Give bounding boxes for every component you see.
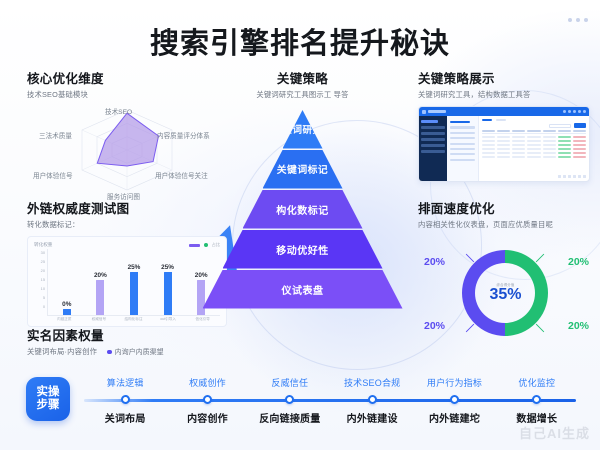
bar-chart-card: 转化权重 占比 302520151050 0%20%25%25%20% 内链正质… — [27, 236, 227, 327]
bar-category-label: 信化引导 — [188, 317, 217, 322]
page-title: 搜索引擎排名提升秘诀 — [0, 20, 600, 62]
steps-row: 算法逻辑关词布局权威创作内容创作反威信任反向链接质量技术SEO合规内外链建设用户… — [84, 373, 578, 431]
donut-leader-line — [466, 324, 474, 332]
step-top-label: 反威信任 — [271, 376, 308, 389]
bar-value-label: 25% — [128, 264, 141, 271]
table-row — [482, 156, 586, 158]
step-bottom-label: 反向链接质量 — [259, 410, 320, 425]
pyramid-chart: 全词研究关键词标记构化数标记移动优好性仪试表盘 — [203, 110, 403, 310]
bar-ytick: 20 — [41, 268, 45, 273]
weight-legend: 内询户内质渠望 — [107, 347, 164, 357]
step-node[interactable] — [285, 395, 294, 404]
bar-chart-yaxis: 302520151050 — [34, 249, 47, 316]
bar-ytick: 15 — [41, 277, 45, 282]
mock-body — [419, 116, 589, 181]
table-row — [482, 140, 586, 142]
donut-label-2: 20% — [424, 320, 445, 332]
mock-search-button — [574, 123, 586, 127]
pyramid-tier-label: 移动优好性 — [276, 242, 329, 257]
bar-ytick: 5 — [43, 295, 45, 300]
bar-chart-plot: 302520151050 0%20%25%25%20% — [34, 249, 220, 316]
step-top-label: 技术SEO合规 — [344, 376, 400, 389]
bar-chart-xaxis: 内链正质权威信号结构化标注out引导入信化引导 — [34, 317, 220, 322]
bar-value-label: 20% — [94, 272, 107, 279]
table-row — [482, 136, 586, 138]
donut-label-1: 20% — [568, 320, 589, 332]
bar-rect — [63, 309, 71, 315]
step-bottom-label: 关词布局 — [105, 410, 146, 425]
step-bottom-label: 内容创作 — [187, 410, 228, 425]
bar-section-subtitle: 转化数据标记： — [27, 220, 227, 230]
mock-search-input — [549, 124, 571, 128]
table-row — [482, 148, 586, 150]
step-item[interactable]: 技术SEO合规内外链建设 — [331, 373, 413, 431]
bar-category-label: 权威信号 — [84, 317, 113, 322]
weight-section-subtitle: 关键词布局·内容创作 — [27, 347, 97, 357]
bar-value-label: 0% — [62, 301, 71, 308]
dashboard-screenshot-mock — [418, 106, 590, 182]
step-top-label: 算法逻辑 — [107, 376, 144, 389]
step-item[interactable]: 反威信任反向链接质量 — [249, 373, 331, 431]
mock-titlebar-left — [422, 110, 446, 114]
donut-section-subtitle: 内容相关性化仪表盘，页面应优质量目呢 — [418, 220, 593, 230]
mock-pagination — [482, 175, 586, 178]
step-node[interactable] — [532, 395, 541, 404]
bar-ytick: 25 — [41, 259, 45, 264]
step-node[interactable] — [203, 395, 212, 404]
pyramid-tier: 全词研究 — [283, 110, 323, 149]
donut-label-0: 20% — [568, 256, 589, 268]
bar-chart-bars: 0%20%25%25%20% — [47, 249, 220, 316]
pyramid-section-subtitle: 关键词研究工具图示工 导答 — [200, 90, 405, 100]
steps-section: 实操 步骤 算法逻辑关词布局权威创作内容创作反威信任反向链接质量技术SEO合规内… — [26, 373, 578, 431]
step-node[interactable] — [121, 395, 130, 404]
bar-column: 25% — [153, 249, 182, 315]
bar-ytick: 30 — [41, 250, 45, 255]
weight-section-title: 实名因素权量 — [27, 325, 237, 344]
radar-chart: 技术SEO 内容质量评分体系 用户体验信号关注 服务访问图 用户体验信号 三法术… — [27, 104, 227, 199]
step-top-label: 优化监控 — [518, 376, 555, 389]
table-row — [482, 152, 586, 154]
bar-axis-caption: 转化权重 — [34, 242, 52, 248]
pyramid-tier: 仪试表盘 — [203, 270, 403, 309]
pyramid-tier-label: 关键词标记 — [277, 162, 328, 176]
pyramid-tier-label: 构化数标记 — [276, 202, 329, 217]
steps-badge-line1: 实操 — [37, 386, 60, 398]
step-bottom-label: 内外链建设 — [347, 410, 398, 425]
donut-chart: 20% 20% 20% 20% 综合得分值 35% — [418, 234, 593, 352]
mock-titlebar-actions — [563, 110, 586, 113]
bar-column: 20% — [86, 249, 115, 315]
bar-value-label: 25% — [161, 264, 174, 271]
mock-search-row — [482, 123, 586, 127]
donut-leader-line — [466, 254, 474, 262]
watermark: 自己AI生成 — [519, 423, 590, 442]
radar-label-4: 用户体验信号 — [33, 170, 73, 180]
step-node[interactable] — [368, 395, 377, 404]
bar-chart-header: 转化权重 占比 — [34, 242, 220, 248]
donut-section: 排面速度优化 内容相关性化仪表盘，页面应优质量目呢 20% 20% 20% 20… — [418, 198, 593, 352]
bar-rect — [96, 280, 104, 315]
weight-legend-label: 内询户内质渠望 — [115, 347, 164, 357]
pyramid-tier: 关键词标记 — [263, 150, 343, 189]
step-node[interactable] — [450, 395, 459, 404]
mock-tabs — [482, 119, 586, 121]
infographic-poster: 搜索引擎排名提升秘诀 核心优化维度 技术SEO基础模块 技术SEO 内容质量评分… — [0, 0, 600, 450]
dashboard-section-title: 关键策略展示 — [418, 68, 590, 87]
donut-section-title: 排面速度优化 — [418, 198, 593, 217]
radar-label-5: 三法术质量 — [39, 130, 72, 140]
legend-bar-swatch — [189, 244, 200, 247]
steps-badge: 实操 步骤 — [26, 377, 70, 421]
mock-logo-icon — [422, 110, 426, 114]
mock-title-placeholder — [428, 110, 446, 112]
pyramid-section: 关键策略 关键词研究工具图示工 导答 全词研究关键词标记构化数标记移动优好性仪试… — [200, 68, 405, 310]
steps-badge-line2: 步骤 — [37, 399, 60, 411]
step-top-label: 用户行为指标 — [427, 376, 482, 389]
pyramid-section-title: 关键策略 — [200, 68, 405, 87]
bar-ytick: 10 — [41, 286, 45, 291]
bar-ytick: 0 — [43, 304, 45, 309]
donut-center-value: 35% — [489, 287, 521, 304]
steps-badge-label: 实操 步骤 — [37, 386, 60, 412]
mock-sidebar — [419, 116, 447, 181]
dashboard-section-subtitle: 关键词研究工具，结构数据工具答 — [418, 90, 590, 100]
radar-chart-svg — [27, 104, 227, 199]
step-top-label: 权威创作 — [189, 376, 226, 389]
bar-section: 外链权威度测试图 转化数据标记： 转化权重 占比 302520151050 0%… — [27, 198, 227, 327]
bar-rect — [130, 272, 138, 315]
pyramid-tier-label: 仪试表盘 — [282, 282, 324, 297]
bar-column: 25% — [120, 249, 149, 315]
donut-label-3: 20% — [424, 256, 445, 268]
bar-category-label: 内链正质 — [50, 317, 79, 322]
weight-section: 实名因素权量 关键词布局·内容创作 内询户内质渠望 — [27, 325, 237, 357]
step-item[interactable]: 算法逻辑关词布局 — [84, 373, 166, 431]
bar-category-label: 结构化标注 — [119, 317, 148, 322]
bar-category-label: out引导入 — [153, 317, 182, 322]
radar-label-0: 技术SEO — [105, 106, 132, 116]
step-bottom-label: 内外链建坨 — [429, 410, 480, 425]
mock-table-header — [482, 130, 586, 134]
pyramid-tier-label: 全词研究 — [283, 122, 323, 136]
pyramid-tier: 移动优好性 — [223, 230, 383, 269]
step-item[interactable]: 用户行为指标内外链建坨 — [413, 373, 495, 431]
mock-tree-panel — [447, 116, 479, 181]
weight-legend-dot — [107, 350, 112, 355]
donut-leader-line — [536, 254, 544, 262]
pyramid-tier: 构化数标记 — [243, 190, 363, 229]
mock-titlebar — [419, 107, 589, 116]
dashboard-section: 关键策略展示 关键词研究工具，结构数据工具答 — [418, 68, 590, 182]
mock-main-panel — [479, 116, 589, 181]
bar-rect — [164, 272, 172, 315]
bar-column: 0% — [53, 249, 82, 315]
weight-section-row: 关键词布局·内容创作 内询户内质渠望 — [27, 347, 237, 357]
step-item[interactable]: 权威创作内容创作 — [166, 373, 248, 431]
table-row — [482, 144, 586, 146]
donut-leader-line — [536, 324, 544, 332]
bar-section-title: 外链权威度测试图 — [27, 198, 227, 217]
donut-center-readout: 综合得分值 35% — [489, 282, 521, 304]
